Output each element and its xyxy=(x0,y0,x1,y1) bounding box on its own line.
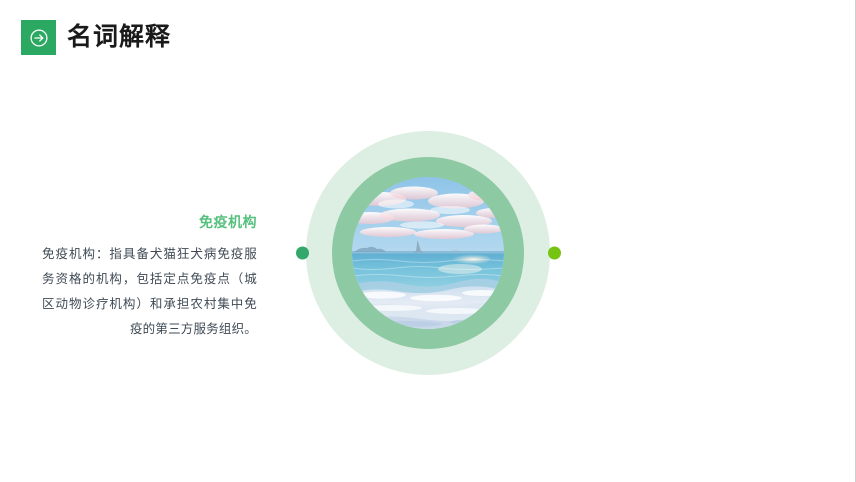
circular-graphic xyxy=(306,131,550,375)
connector-dot-right xyxy=(548,247,561,260)
arrow-right-circle-icon xyxy=(28,27,50,49)
term-description: 免疫机构：指具备犬猫狂犬病免疫服务资格的机构，包括定点免疫点（城区动物诊疗机构）… xyxy=(42,242,257,342)
term-text-block: 免疫机构 免疫机构：指具备犬猫狂犬病免疫服务资格的机构，包括定点免疫点（城区动物… xyxy=(42,212,257,342)
slide-canvas: 名词解释 免疫机构 免疫机构：指具备犬猫狂犬病免疫服务资格的机构，包括定点免疫点… xyxy=(0,0,856,482)
page-title: 名词解释 xyxy=(67,25,171,50)
connector-dot-left xyxy=(296,247,309,260)
term-title: 免疫机构 xyxy=(42,212,257,232)
header-badge xyxy=(21,20,56,55)
seascape-photo-art xyxy=(352,177,504,329)
slide-header: 名词解释 xyxy=(21,20,171,55)
seascape-photo xyxy=(352,177,504,329)
